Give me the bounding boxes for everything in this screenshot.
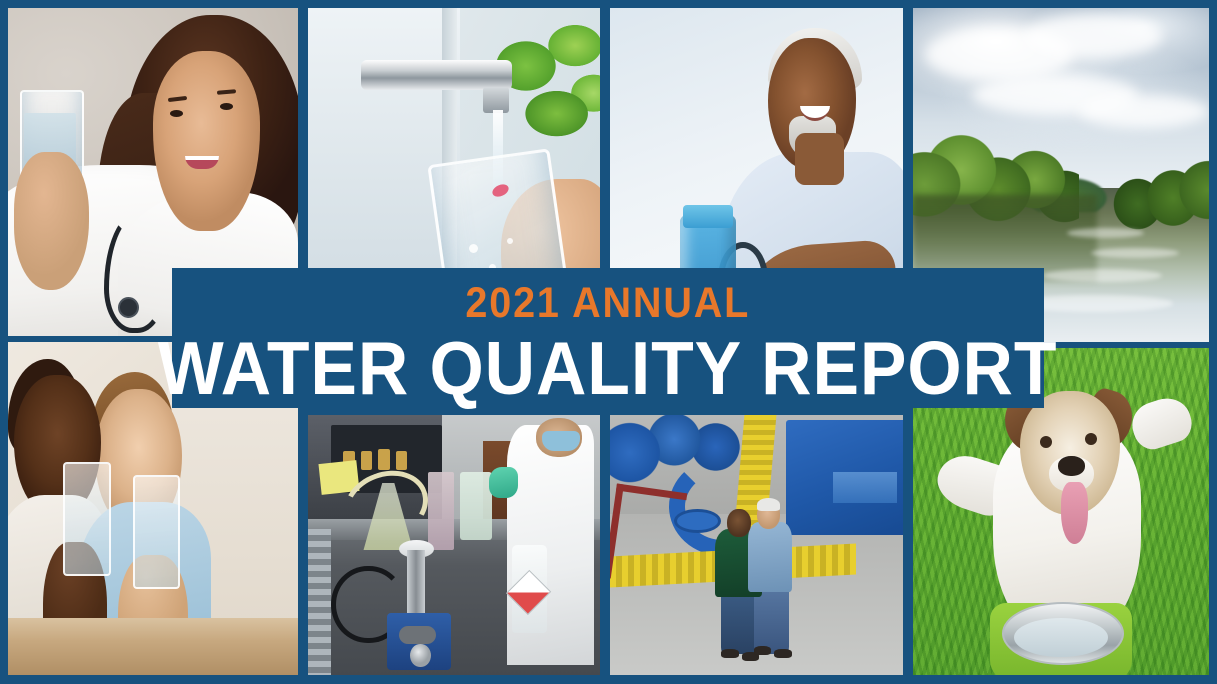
title-banner: 2021 ANNUAL WATER QUALITY REPORT — [172, 268, 1044, 408]
page-title: WATER QUALITY REPORT — [158, 331, 1058, 406]
report-cover-page: 2021 ANNUAL WATER QUALITY REPORT — [0, 0, 1217, 684]
photo-treatment-plant-workers — [610, 415, 903, 675]
photo-laboratory-bench — [308, 415, 600, 675]
report-eyebrow-text: 2021 ANNUAL — [466, 282, 751, 325]
